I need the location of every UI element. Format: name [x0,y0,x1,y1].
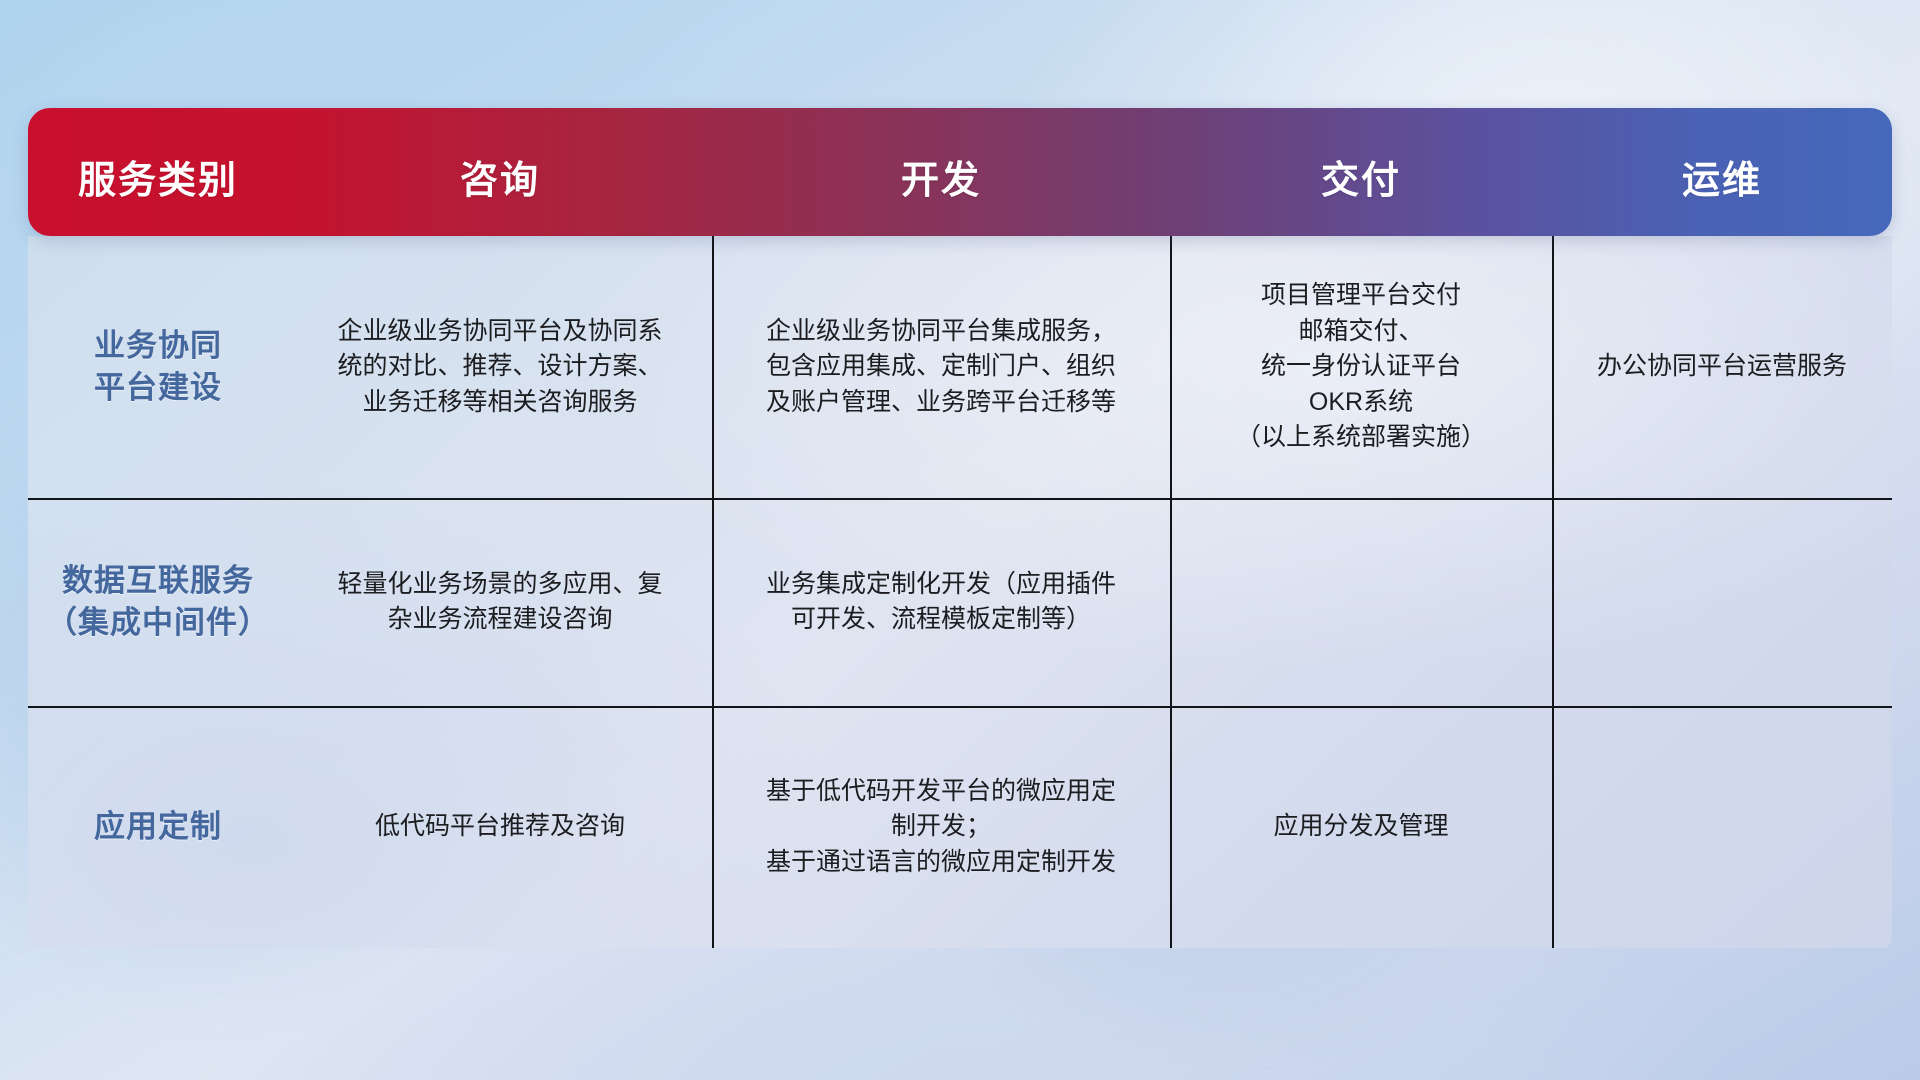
cell-divider [1170,706,1172,948]
cell-delivery: 项目管理平台交付 邮箱交付、 统一身份认证平台 OKR系统 （以上系统部署实施） [1170,236,1552,498]
column-header-label: 交付 [1321,149,1401,204]
cell-delivery: 应用分发及管理 [1170,706,1552,948]
column-header-consulting: 咨询 [288,108,712,236]
column-header-label: 运维 [1682,149,1762,204]
table-row: 数据互联服务 （集成中间件） 轻量化业务场景的多应用、复 杂业务流程建设咨询 业… [28,498,1892,706]
column-header-label: 咨询 [460,149,540,204]
table-row: 应用定制 低代码平台推荐及咨询 基于低代码开发平台的微应用定 制开发； 基于通过… [28,706,1892,948]
cell-text: 办公协同平台运营服务 [1597,349,1847,385]
cell-divider [1552,706,1554,948]
cell-divider [1170,498,1172,706]
cell-divider [1170,236,1172,498]
row-label-cell: 业务协同 平台建设 [28,236,288,498]
table-body: 业务协同 平台建设 企业级业务协同平台及协同系 统的对比、推荐、设计方案、 业务… [28,236,1892,948]
row-label: 数据互联服务 （集成中间件） [46,560,270,643]
cell-operations: 办公协同平台运营服务 [1552,236,1892,498]
column-header-service-category: 服务类别 [28,108,288,236]
column-header-development: 开发 [712,108,1170,236]
cell-divider [712,706,714,948]
cell-text: 基于低代码开发平台的微应用定 制开发； 基于通过语言的微应用定制开发 [766,774,1116,881]
cell-text: 企业级业务协同平台集成服务， 包含应用集成、定制门户、组织 及账户管理、业务跨平… [766,314,1116,421]
cell-development: 企业级业务协同平台集成服务， 包含应用集成、定制门户、组织 及账户管理、业务跨平… [712,236,1170,498]
cell-divider [712,498,714,706]
column-header-label: 开发 [901,149,981,204]
service-matrix-table: 服务类别 咨询 开发 交付 运维 业务协同 平台建设 企业级业务协同平台及协同系… [28,108,1892,948]
table-header-row: 服务类别 咨询 开发 交付 运维 [28,108,1892,236]
cell-divider [712,236,714,498]
table-row: 业务协同 平台建设 企业级业务协同平台及协同系 统的对比、推荐、设计方案、 业务… [28,236,1892,498]
cell-operations [1552,706,1892,948]
row-label: 业务协同 平台建设 [94,325,222,408]
row-label-cell: 数据互联服务 （集成中间件） [28,498,288,706]
column-header-label: 服务类别 [78,149,238,204]
row-label: 应用定制 [94,806,222,848]
cell-divider [1552,498,1554,706]
column-header-operations: 运维 [1552,108,1892,236]
cell-consulting: 低代码平台推荐及咨询 [288,706,712,948]
column-header-delivery: 交付 [1170,108,1552,236]
row-label-cell: 应用定制 [28,706,288,948]
cell-text: 业务集成定制化开发（应用插件 可开发、流程模板定制等） [766,567,1116,638]
cell-development: 业务集成定制化开发（应用插件 可开发、流程模板定制等） [712,498,1170,706]
cell-text: 低代码平台推荐及咨询 [375,809,625,845]
row-separator [28,498,1892,500]
cell-consulting: 企业级业务协同平台及协同系 统的对比、推荐、设计方案、 业务迁移等相关咨询服务 [288,236,712,498]
cell-operations [1552,498,1892,706]
cell-consulting: 轻量化业务场景的多应用、复 杂业务流程建设咨询 [288,498,712,706]
cell-text: 应用分发及管理 [1273,809,1448,845]
cell-delivery [1170,498,1552,706]
row-separator [28,706,1892,708]
cell-text: 项目管理平台交付 邮箱交付、 统一身份认证平台 OKR系统 （以上系统部署实施） [1236,278,1486,456]
cell-divider [1552,236,1554,498]
cell-development: 基于低代码开发平台的微应用定 制开发； 基于通过语言的微应用定制开发 [712,706,1170,948]
cell-text: 轻量化业务场景的多应用、复 杂业务流程建设咨询 [337,567,662,638]
cell-text: 企业级业务协同平台及协同系 统的对比、推荐、设计方案、 业务迁移等相关咨询服务 [337,314,662,421]
